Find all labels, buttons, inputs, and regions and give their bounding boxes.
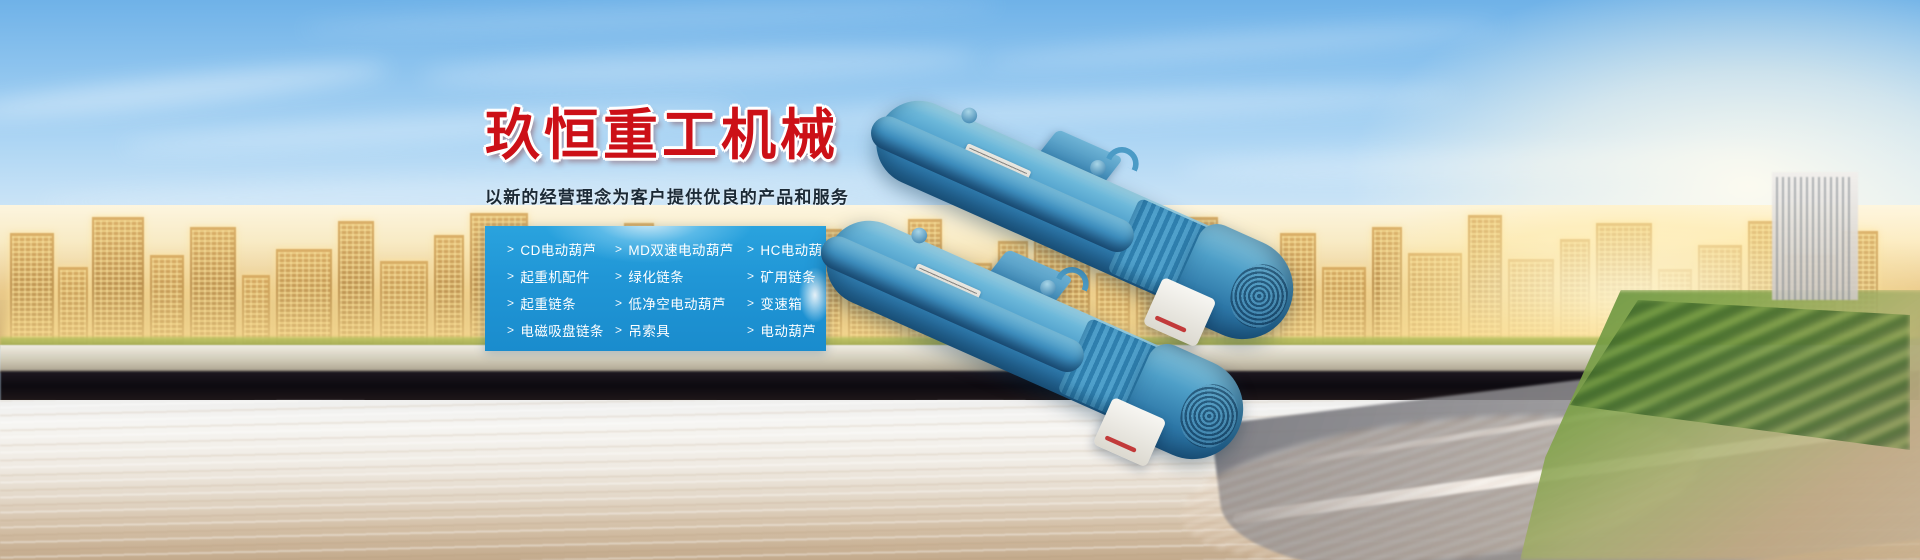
product-label: 低净空电动葫芦 [628,293,725,313]
promotional-banner: 玖恒重工机械 以新的经营理念为客户提供优良的产品和服务 > CD电动葫芦 > M… [0,0,1920,560]
product-link-greening-chain[interactable]: > 绿化链条 [615,266,747,286]
product-label: CD电动葫芦 [520,239,596,259]
cloud-wisp [420,42,981,92]
company-tagline: 以新的经营理念为客户提供优良的产品和服务 [485,183,830,208]
chevron-right-icon: > [615,242,622,256]
product-label: 吊索具 [628,320,670,340]
product-label: 绿化链条 [628,266,684,286]
product-link-magnetic-chuck-chain[interactable]: > 电磁吸盘链条 [507,320,615,340]
chevron-right-icon: > [747,269,754,283]
cloud-wisp [0,56,390,127]
product-link-cd-hoist[interactable]: > CD电动葫芦 [507,239,615,259]
company-headline: 玖恒重工机械 [485,108,830,163]
product-link-electric-hoist[interactable]: > 电动葫芦 [747,320,848,340]
product-links-panel: > CD电动葫芦 > MD双速电动葫芦 > HC电动葫芦 > 起重机配件 > 绿… [485,226,826,351]
chevron-right-icon: > [747,296,754,310]
product-link-md-dual-speed-hoist[interactable]: > MD双速电动葫芦 [615,239,747,259]
product-label: 电磁吸盘链条 [520,320,603,340]
product-label: 起重机配件 [520,266,590,286]
product-label: 变速箱 [760,293,802,313]
product-link-low-headroom-hoist[interactable]: > 低净空电动葫芦 [615,293,747,313]
chevron-right-icon: > [747,242,754,256]
chevron-right-icon: > [615,323,622,337]
chevron-right-icon: > [507,296,514,310]
background-tower-building [1772,172,1858,300]
chevron-right-icon: > [615,296,622,310]
banner-text-block: 玖恒重工机械 以新的经营理念为客户提供优良的产品和服务 [485,108,830,208]
product-label: MD双速电动葫芦 [628,239,733,259]
chevron-right-icon: > [507,323,514,337]
chevron-right-icon: > [747,323,754,337]
chevron-right-icon: > [507,269,514,283]
product-link-lifting-chain[interactable]: > 起重链条 [507,293,615,313]
product-link-crane-parts[interactable]: > 起重机配件 [507,266,615,286]
product-label: 起重链条 [520,293,576,313]
product-label: 电动葫芦 [760,320,816,340]
product-link-gearbox[interactable]: > 变速箱 [747,293,848,313]
chevron-right-icon: > [507,242,514,256]
product-link-slings[interactable]: > 吊索具 [615,320,747,340]
cloud-wisp [300,0,1000,38]
product-label: 矿用链条 [760,266,816,286]
chevron-right-icon: > [615,269,622,283]
